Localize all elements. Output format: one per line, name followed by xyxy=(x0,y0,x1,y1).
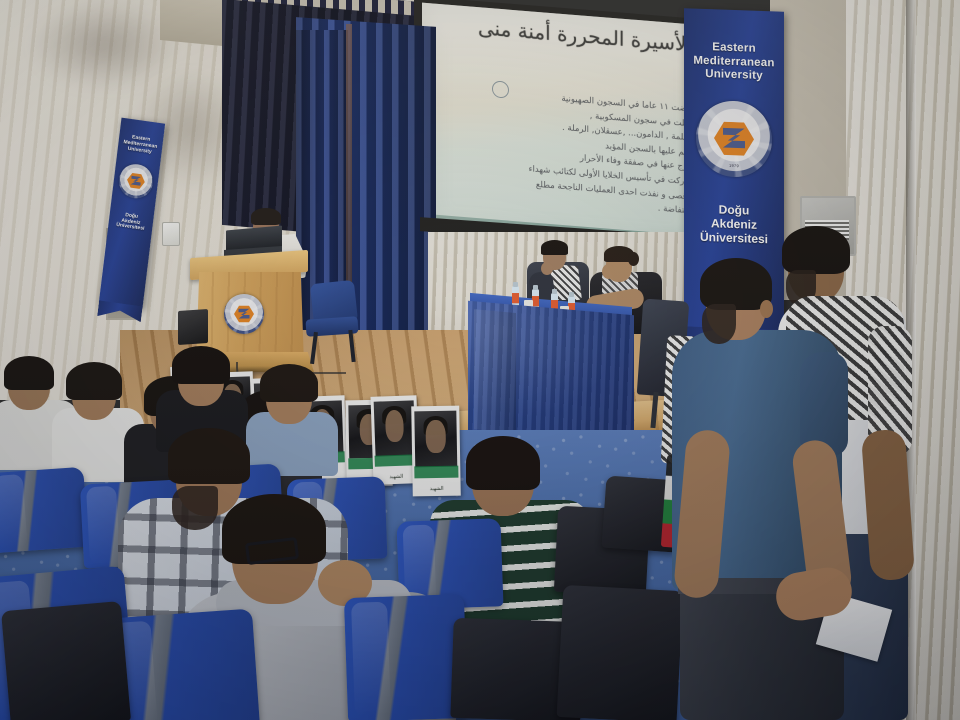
wall-stain-upper xyxy=(30,0,180,90)
standing-man-beard xyxy=(702,304,736,344)
emu-logo-emblem: 1979 xyxy=(696,99,772,178)
emu-logo-emblem xyxy=(117,162,155,200)
banner-right-top-text: Eastern Mediterranean University xyxy=(684,8,784,84)
banner-left-bottom-text: Doğu Akdeniz Üniversitesi xyxy=(108,195,156,235)
auditorium-seat[interactable] xyxy=(0,467,89,554)
poster-caption-band xyxy=(374,454,417,467)
bottle-cap xyxy=(533,285,538,290)
attendee-hair xyxy=(66,362,122,400)
attendee-hair xyxy=(172,346,230,384)
bottle-cap xyxy=(552,289,557,294)
attendee-hair xyxy=(4,356,54,390)
attendee-hair xyxy=(466,436,540,490)
bottle-cap xyxy=(513,282,518,287)
panel-table xyxy=(468,301,634,446)
table-cloth-drape xyxy=(474,309,516,433)
light-switch[interactable] xyxy=(162,222,180,246)
seat-highlight xyxy=(351,602,391,717)
standing-man-ear xyxy=(760,300,773,318)
panelist-hair-bun xyxy=(628,252,639,266)
slide-body-text: امضت ١١ عاما في السجون الصهيونيةتنقلت في… xyxy=(442,82,694,219)
banner-left-top-text: Eastern Mediterranean University xyxy=(117,118,165,158)
auditorium-event-photo: الأسيرة المحررة أمنة منى امضت ١١ عاما في… xyxy=(0,0,960,720)
projection-screen: الأسيرة المحررة أمنة منى امضت ١١ عاما في… xyxy=(422,3,704,256)
emblem-year: 1979 xyxy=(729,163,739,168)
bottle-cap xyxy=(569,292,574,297)
poster-photo xyxy=(374,401,415,457)
auditorium-seat-shadowed[interactable] xyxy=(1,601,131,720)
attendee-hair xyxy=(260,364,318,402)
attendee-beard xyxy=(172,486,218,530)
auditorium-seat[interactable] xyxy=(344,594,468,720)
poster-photo xyxy=(415,411,457,468)
lectern-emblem xyxy=(224,294,264,334)
panelist-hand xyxy=(602,264,615,279)
attendee-hair xyxy=(168,428,250,484)
auditorium-seat-shadowed[interactable] xyxy=(557,585,684,720)
memorial-poster: الشهيد xyxy=(411,406,461,497)
standing-man-hair xyxy=(782,226,850,274)
banner-right-bottom-text: Doğu Akdeniz Üniversitesi xyxy=(684,175,784,247)
panelist-hair xyxy=(541,240,568,255)
panelist-hand xyxy=(541,262,553,275)
poster-portrait-face xyxy=(426,420,446,453)
tshirt-sleeve xyxy=(800,352,848,456)
stage-equipment-box xyxy=(178,309,208,345)
poster-caption: الشهيد xyxy=(413,485,461,492)
seat-highlight xyxy=(86,486,120,565)
speaker-hair xyxy=(251,208,281,225)
seat-highlight xyxy=(0,474,27,549)
poster-caption-band xyxy=(414,466,458,478)
